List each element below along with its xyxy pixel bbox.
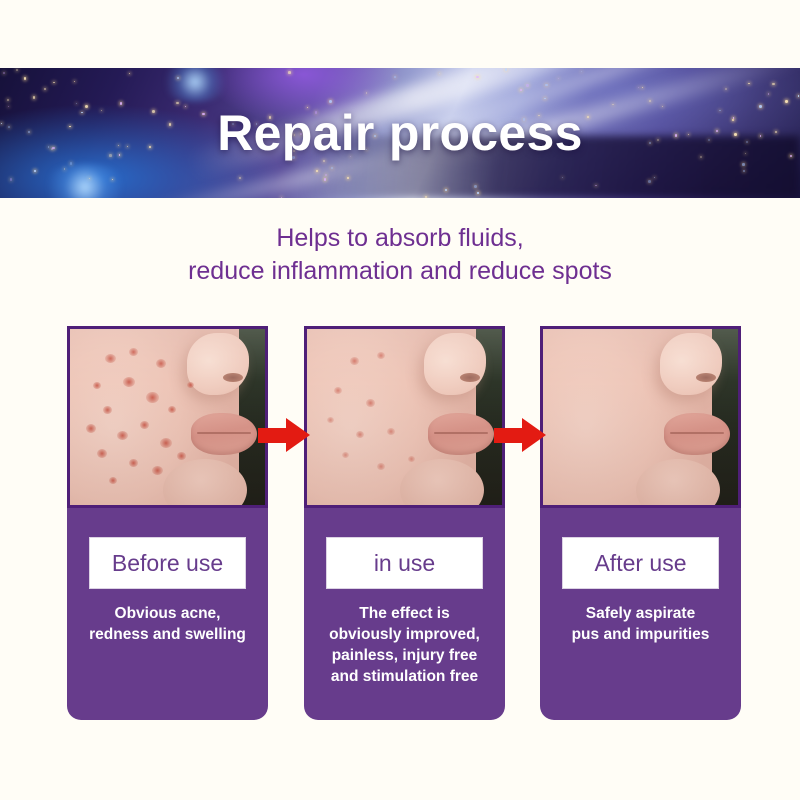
hero-banner: Repair process bbox=[0, 68, 800, 198]
promo-page: Repair process Helps to absorb fluids, r… bbox=[0, 0, 800, 800]
subtitle: Helps to absorb fluids, reduce inflammat… bbox=[0, 222, 800, 288]
arrow-head bbox=[286, 418, 310, 452]
step-label-box: After use bbox=[562, 537, 719, 589]
step-label: Before use bbox=[112, 550, 223, 577]
arrow-shaft bbox=[494, 428, 524, 443]
step-card-in-use: in use The effect isobviously improved,p… bbox=[304, 326, 505, 720]
arrow-head bbox=[522, 418, 546, 452]
step-description: Safely aspiratepus and impurities bbox=[546, 603, 735, 645]
arrow-right-icon bbox=[258, 418, 310, 452]
step-label-box: in use bbox=[326, 537, 483, 589]
arrow-right-icon bbox=[494, 418, 546, 452]
step-label: in use bbox=[374, 550, 435, 577]
step-description: The effect isobviously improved,painless… bbox=[310, 603, 499, 687]
photo-shading bbox=[307, 329, 502, 505]
photo-shading bbox=[543, 329, 738, 505]
step-photo-in-use bbox=[304, 326, 505, 508]
photo-shading bbox=[70, 329, 265, 505]
step-label-box: Before use bbox=[89, 537, 246, 589]
step-card-before: Before use Obvious acne,redness and swel… bbox=[67, 326, 268, 720]
step-photo-after bbox=[540, 326, 741, 508]
subtitle-line-1: Helps to absorb fluids, bbox=[0, 222, 800, 255]
step-label: After use bbox=[594, 550, 686, 577]
subtitle-line-2: reduce inflammation and reduce spots bbox=[0, 255, 800, 288]
step-card-after: After use Safely aspiratepus and impurit… bbox=[540, 326, 741, 720]
step-photo-before bbox=[67, 326, 268, 508]
page-title: Repair process bbox=[0, 68, 800, 198]
step-description: Obvious acne,redness and swelling bbox=[73, 603, 262, 645]
steps-row: Before use Obvious acne,redness and swel… bbox=[0, 326, 800, 720]
arrow-shaft bbox=[258, 428, 288, 443]
